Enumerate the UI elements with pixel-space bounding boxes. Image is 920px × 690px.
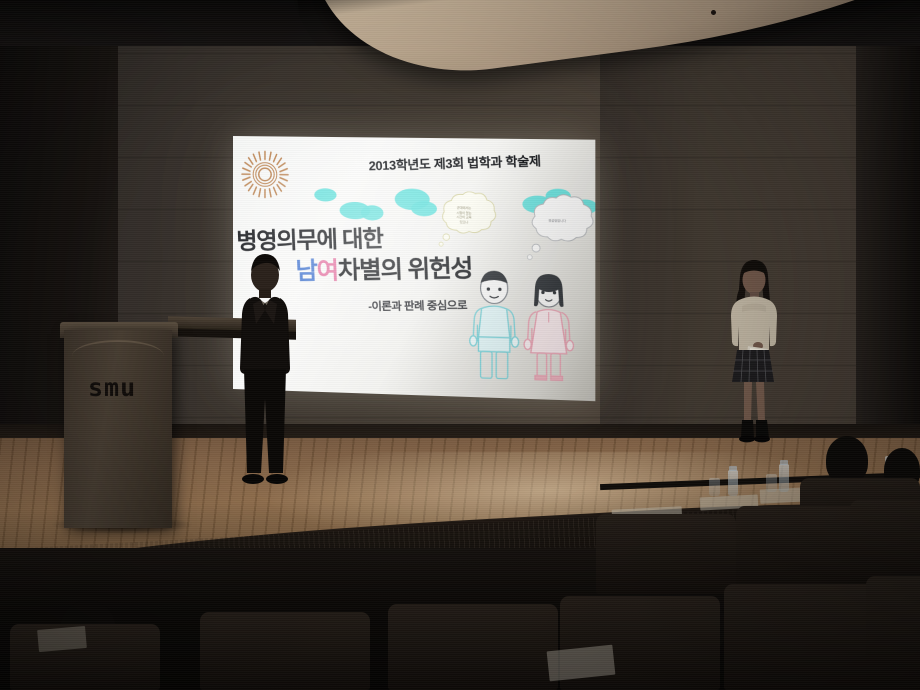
water-bottle-cap-1 — [729, 466, 737, 471]
audience-seat-3 — [736, 506, 862, 590]
audience-seat-6 — [724, 584, 874, 690]
slide-title-male-char: 남 — [295, 258, 317, 286]
female-stick-figure — [519, 272, 578, 388]
ceiling-fixture-dot — [711, 10, 716, 15]
podium-arc-detail — [72, 340, 164, 356]
slide-header-text: 2013학년도 제3회 법학과 학술제 — [343, 149, 567, 178]
podium — [64, 330, 172, 528]
sun-burst-logo — [240, 149, 290, 200]
female-assistant — [722, 258, 784, 450]
audience-seat-2 — [596, 514, 736, 594]
water-bottle-cap-2 — [780, 460, 788, 465]
water-glass-1 — [709, 478, 720, 496]
cloud-shape-1 — [314, 188, 336, 201]
cloud-shape-3 — [361, 205, 383, 221]
male-stick-figure — [465, 269, 524, 386]
thought-bubble-right-text: 불공평합니다 — [537, 218, 577, 223]
audience-seat-10 — [388, 604, 558, 690]
audience-seat-7 — [866, 576, 920, 690]
slide-title-female-char: 여 — [316, 258, 338, 286]
water-bottle-1 — [728, 470, 738, 496]
water-bottle-2 — [779, 464, 789, 492]
audience-seat-9 — [200, 612, 370, 690]
thought-bubble-right: 불공평합니다 — [520, 193, 594, 264]
audience-paper-5 — [37, 626, 87, 652]
slide-title-rest: 차별의 위헌성 — [337, 256, 472, 286]
photo-scene: 2013학년도 제3회 법학과 학술제 군대에서는 시험이 없는 시간이 교육 … — [0, 0, 920, 690]
male-presenter — [232, 253, 298, 501]
right-wall-edge — [856, 0, 920, 470]
water-glass-2 — [766, 474, 777, 492]
audience-seat-4 — [850, 500, 920, 586]
audience-head-1 — [826, 436, 868, 484]
slide-title-line1: 병영의무에 대한 — [233, 222, 507, 257]
podium-logo-text: smu — [88, 375, 136, 400]
